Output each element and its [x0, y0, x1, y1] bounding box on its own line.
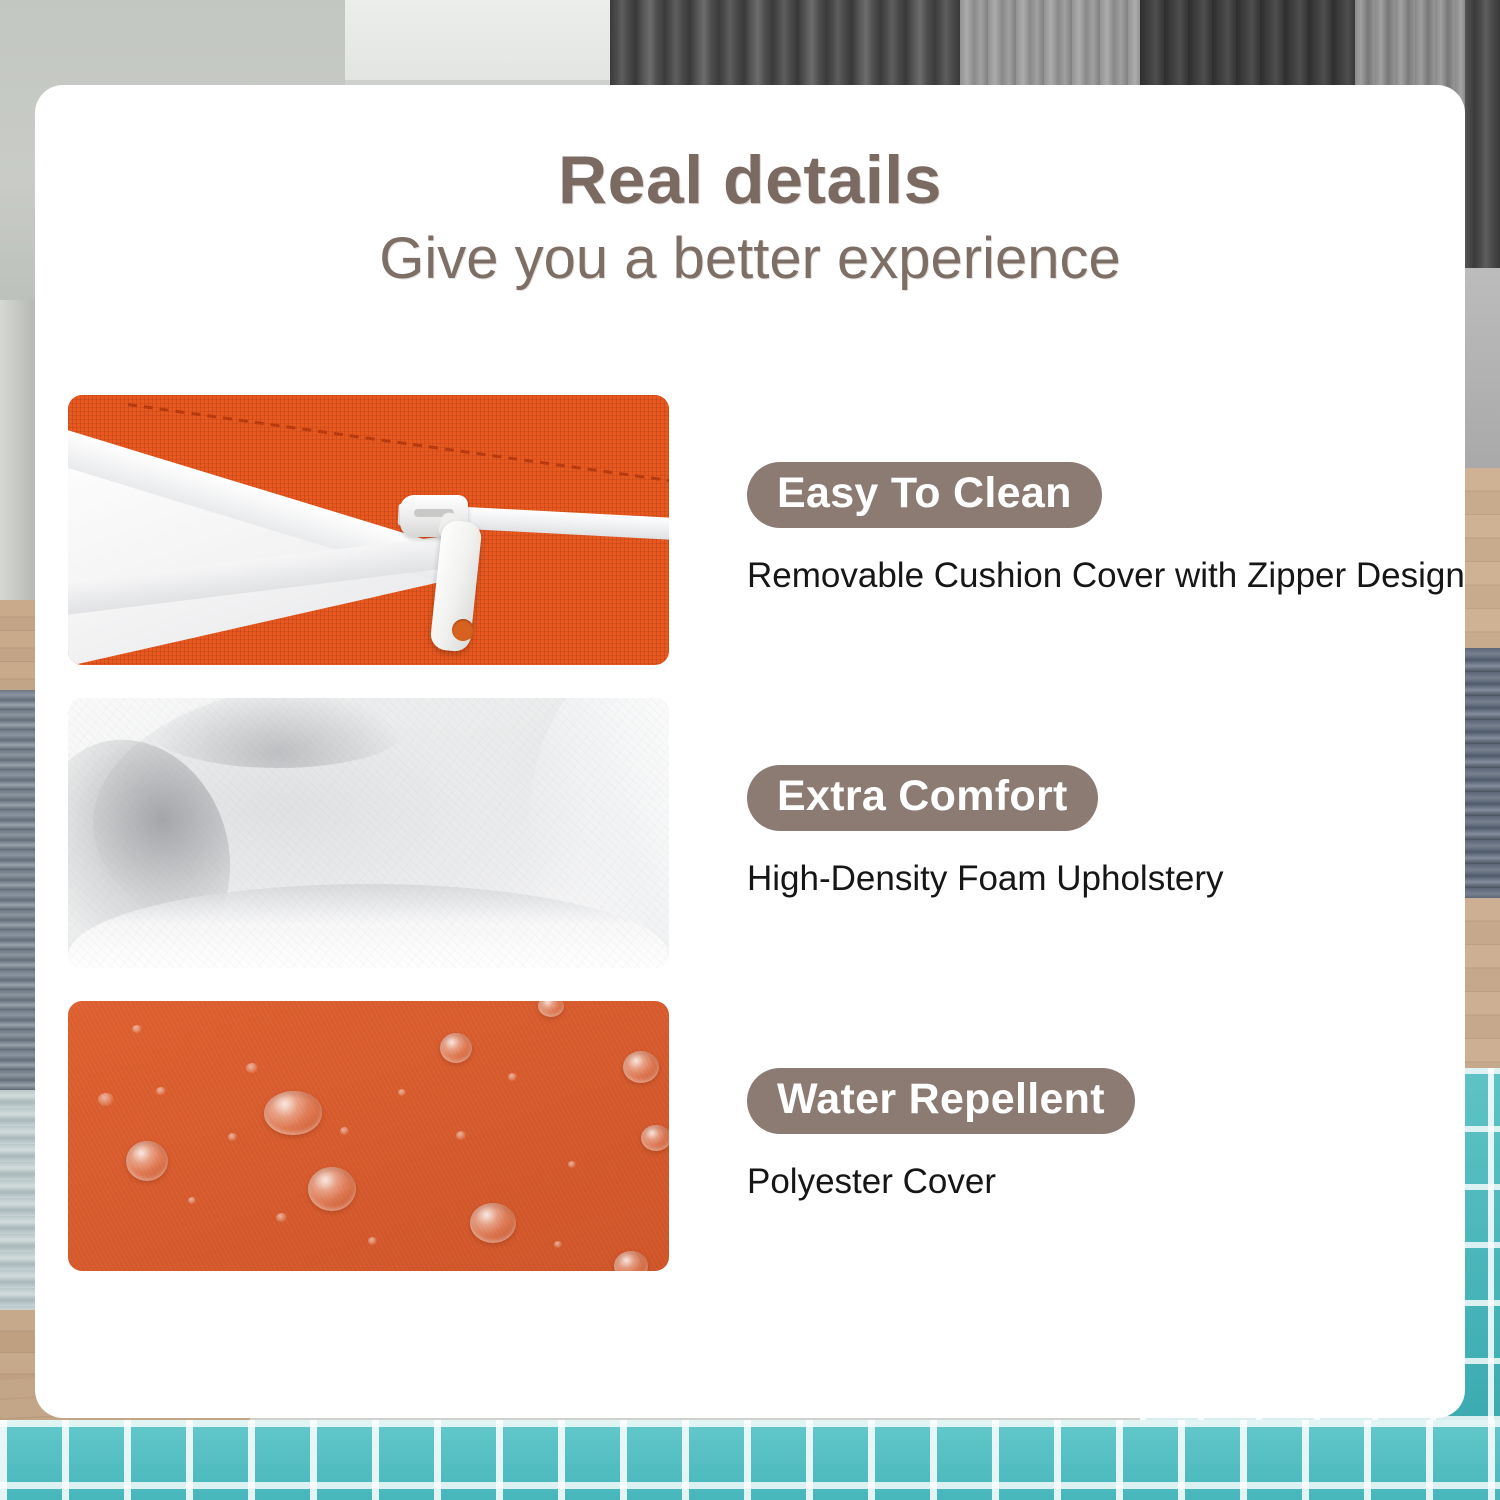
feature-label-badge: Extra Comfort — [747, 765, 1098, 831]
feature-description: Polyester Cover — [747, 1160, 1467, 1204]
zipper-detail-photo — [68, 395, 669, 665]
water-mist — [456, 1131, 466, 1140]
water-mist — [508, 1073, 517, 1081]
water-droplets-fabric-photo — [68, 1001, 669, 1271]
feature-row: Extra Comfort High-Density Foam Upholste… — [68, 698, 1468, 968]
heading-block: Real details Give you a better experienc… — [35, 145, 1465, 293]
feature-label-badge: Easy To Clean — [747, 462, 1102, 528]
water-droplet — [440, 1033, 472, 1063]
water-mist — [246, 1063, 258, 1073]
feature-row: Easy To Clean Removable Cushion Cover wi… — [68, 395, 1468, 665]
water-mist — [568, 1161, 576, 1168]
feature-list: Easy To Clean Removable Cushion Cover wi… — [68, 395, 1468, 1304]
water-mist — [276, 1213, 287, 1222]
feature-text: Easy To Clean Removable Cushion Cover wi… — [747, 395, 1467, 665]
foam-fiber-fill-photo — [68, 698, 669, 968]
infographic-stage: Real details Give you a better experienc… — [0, 0, 1500, 1500]
water-mist — [132, 1025, 142, 1033]
content-card: Real details Give you a better experienc… — [35, 85, 1465, 1418]
water-mist — [554, 1241, 562, 1248]
background-pool-tile-bottom — [0, 1420, 1500, 1500]
page-title: Real details — [35, 145, 1465, 216]
water-mist — [228, 1133, 237, 1141]
water-droplet — [308, 1167, 356, 1211]
feature-text: Water Repellent Polyester Cover — [747, 1001, 1467, 1271]
feature-description: High-Density Foam Upholstery — [747, 857, 1467, 901]
water-mist — [340, 1127, 349, 1135]
water-mist — [398, 1089, 406, 1096]
water-mist — [156, 1087, 166, 1095]
water-mist — [188, 1197, 196, 1204]
fiber-texture — [68, 698, 669, 968]
water-droplet — [641, 1125, 669, 1151]
background-wall-center — [345, 0, 610, 80]
feature-description: Removable Cushion Cover with Zipper Desi… — [747, 554, 1467, 598]
water-droplet — [126, 1141, 168, 1181]
water-droplet — [623, 1051, 659, 1083]
fabric-twill-texture — [68, 1001, 669, 1271]
feature-text: Extra Comfort High-Density Foam Upholste… — [747, 698, 1467, 968]
page-subtitle: Give you a better experience — [35, 226, 1465, 293]
water-mist — [368, 1237, 377, 1245]
water-droplet — [264, 1091, 322, 1135]
feature-row: Water Repellent Polyester Cover — [68, 1001, 1468, 1271]
water-droplet — [470, 1203, 516, 1243]
feature-label-badge: Water Repellent — [747, 1068, 1135, 1134]
water-mist — [98, 1093, 114, 1106]
